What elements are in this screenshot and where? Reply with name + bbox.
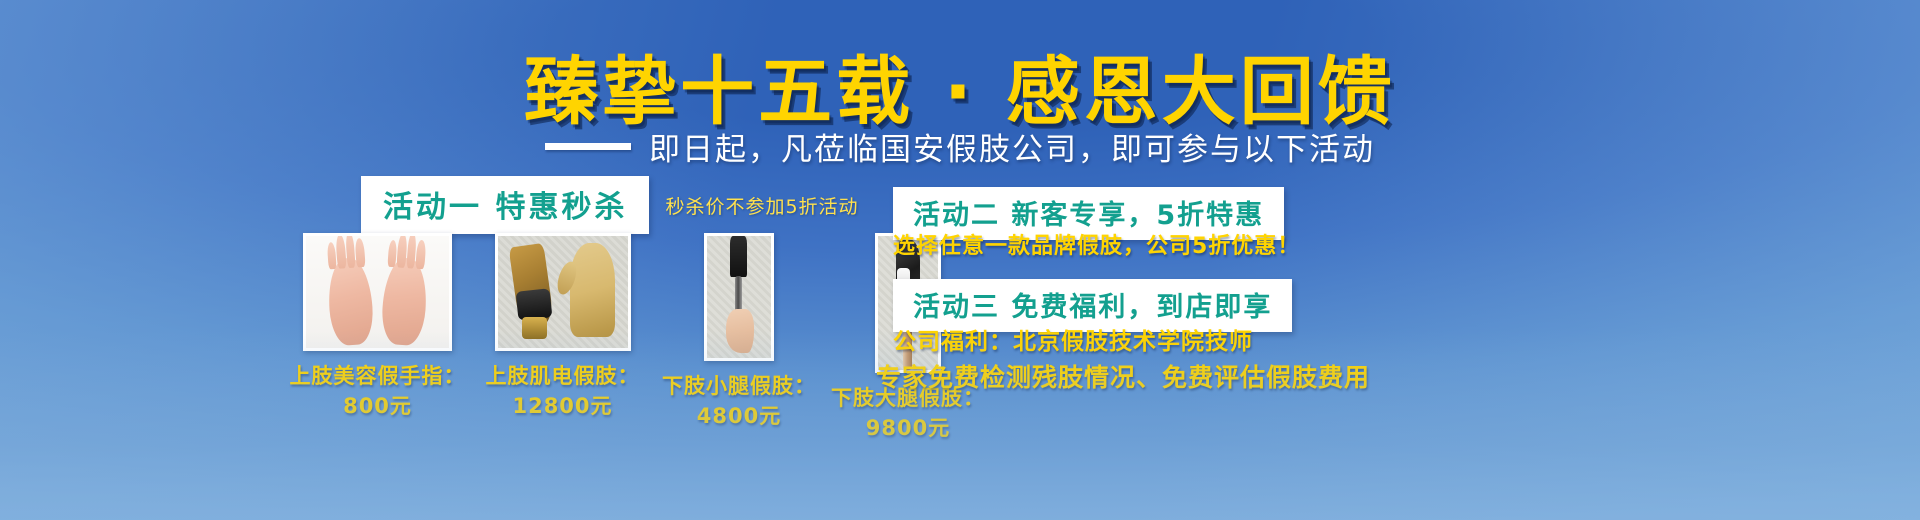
- divider-dash-icon: [545, 143, 631, 150]
- list-item[interactable]: 上肢肌电假肢： 12800元: [470, 233, 655, 422]
- product-image-myoelectric-arm: [495, 233, 631, 351]
- product-price: 4800元: [662, 402, 816, 432]
- list-item[interactable]: 上肢美容假手指： 800元: [285, 233, 470, 422]
- product-name: 上肢美容假手指：: [290, 362, 466, 392]
- product-caption: 上肢美容假手指： 800元: [290, 362, 466, 422]
- activity-one-note: 秒杀价不参加5折活动: [665, 192, 858, 219]
- subtitle-row: 即日起，凡莅临国安假肢公司，即可参与以下活动: [0, 124, 1920, 169]
- activity-one-badge: 活动一 特惠秒杀: [361, 176, 649, 234]
- subtitle-text: 即日起，凡莅临国安假肢公司，即可参与以下活动: [649, 124, 1375, 169]
- activity-three-line-two: 专家免费检测残肢情况、免费评估假肢费用: [876, 358, 1370, 394]
- product-name: 下肢小腿假肢：: [662, 372, 816, 402]
- product-price: 9800元: [831, 414, 985, 444]
- product-image-below-knee-leg: [704, 233, 774, 361]
- list-item[interactable]: 下肢小腿假肢： 4800元: [655, 233, 823, 432]
- activity-two-description: 选择任意一款品牌假肢，公司5折优惠！: [893, 228, 1300, 260]
- page-title: 臻挚十五载 · 感恩大回馈: [0, 32, 1920, 139]
- product-caption: 下肢小腿假肢： 4800元: [662, 372, 816, 432]
- activity-three-line-one: 公司福利：北京假肢技术学院技师: [893, 322, 1253, 356]
- product-caption: 上肢肌电假肢： 12800元: [486, 362, 640, 422]
- activity-one-header: 活动一 特惠秒杀 秒杀价不参加5折活动: [361, 176, 859, 234]
- product-name: 上肢肌电假肢：: [486, 362, 640, 392]
- promo-banner: 臻挚十五载 · 感恩大回馈 即日起，凡莅临国安假肢公司，即可参与以下活动 活动一…: [0, 0, 1920, 520]
- product-list: 上肢美容假手指： 800元 上肢肌电假肢： 12800元: [285, 233, 993, 444]
- product-price: 12800元: [486, 392, 640, 422]
- product-price: 800元: [290, 392, 466, 422]
- product-image-cosmetic-fingers: [303, 233, 452, 351]
